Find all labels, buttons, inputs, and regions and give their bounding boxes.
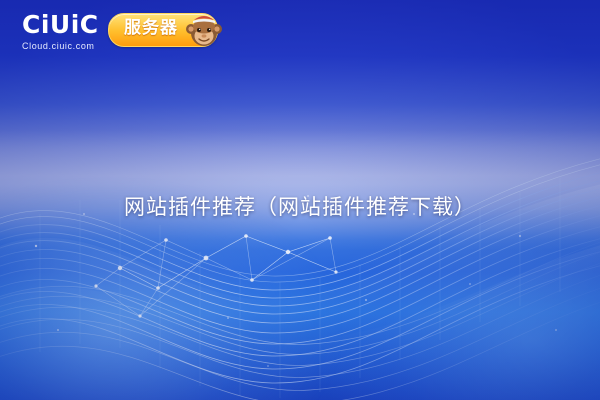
logo-subtext: Cloud.ciuic.com bbox=[22, 42, 114, 51]
server-badge[interactable]: 服务器 bbox=[108, 9, 226, 51]
promo-banner: CiUiC Cloud.ciuic.com 服务器 网站插件推荐（网站插件推荐下… bbox=[0, 0, 600, 400]
logo-wordmark: CiUiC bbox=[22, 12, 114, 37]
page-title: 网站插件推荐（网站插件推荐下载） bbox=[0, 191, 600, 221]
brand-logo[interactable]: CiUiC Cloud.ciuic.com bbox=[22, 12, 114, 51]
monkey-mascot-icon bbox=[182, 9, 226, 51]
badge-label: 服务器 bbox=[114, 18, 188, 38]
